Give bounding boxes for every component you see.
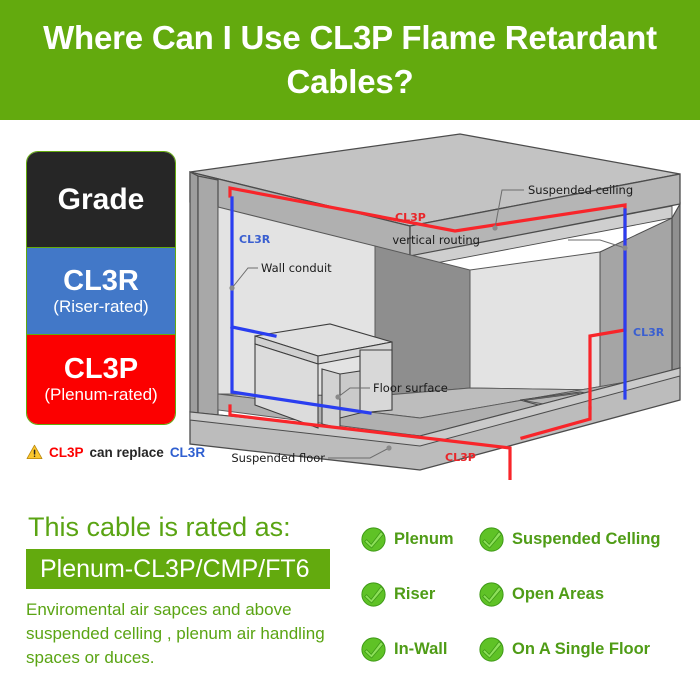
right-outer-wall [600, 204, 680, 390]
rated-as-description: Enviromental air sapces and above suspen… [26, 598, 346, 670]
check-item-in-wall: In-Wall [360, 636, 478, 663]
green-check-circle-icon [478, 581, 505, 608]
check-label: Open Areas [512, 585, 604, 604]
label-wall-conduit: Wall conduit [261, 261, 332, 275]
check-label: Suspended Celling [512, 530, 661, 549]
green-check-circle-icon [360, 526, 387, 553]
rating-pill-label: Plenum-CL3P/CMP/FT6 [40, 555, 310, 584]
replace-note-cl3p: CL3P [49, 445, 84, 460]
warning-triangle-icon [26, 444, 43, 460]
check-item-plenum: Plenum [360, 526, 478, 553]
green-check-circle-icon [360, 581, 387, 608]
label-suspended-ceiling: Suspended ceiling [528, 183, 633, 197]
grade-plenum-sub: (Plenum-rated) [44, 385, 157, 405]
cable-tag-cl3r-right: CL3R [633, 326, 665, 339]
page-title: Where Can I Use CL3P Flame Retardant Cab… [0, 16, 700, 103]
grade-riser-sub: (Riser-rated) [53, 297, 148, 317]
room-isometric-diagram: Suspended ceiling Wall conduit vertical … [170, 128, 700, 480]
check-item-riser: Riser [360, 581, 478, 608]
cable-tag-cl3r-left: CL3R [239, 233, 271, 246]
grade-legend-card: Grade CL3R (Riser-rated) CL3P (Plenum-ra… [26, 151, 176, 425]
rating-pill: Plenum-CL3P/CMP/FT6 [26, 549, 330, 589]
grade-legend-row-riser: CL3R (Riser-rated) [27, 247, 175, 335]
check-item-open-areas: Open Areas [478, 581, 700, 608]
cable-tag-cl3p-bottom: CL3P [445, 451, 476, 464]
rating-check-list: Plenum Suspended Celling Riser Open Area… [360, 512, 700, 677]
label-floor-surface: Floor surface [373, 381, 448, 395]
right-inner-wall [470, 252, 600, 390]
grade-riser-name: CL3R [63, 266, 139, 296]
check-item-on-a-single-floor: On A Single Floor [478, 636, 700, 663]
grade-legend-row-plenum: CL3P (Plenum-rated) [27, 335, 175, 424]
check-label: Riser [394, 585, 435, 604]
grade-legend-header-label: Grade [58, 183, 145, 217]
cable-tag-cl3p-top: CL3P [395, 211, 426, 224]
left-wall-edge [190, 172, 218, 420]
header-banner: Where Can I Use CL3P Flame Retardant Cab… [0, 0, 700, 120]
green-check-circle-icon [360, 636, 387, 663]
grade-plenum-name: CL3P [64, 354, 138, 384]
check-item-suspended-celling: Suspended Celling [478, 526, 700, 553]
check-label: On A Single Floor [512, 640, 650, 659]
check-label: In-Wall [394, 640, 447, 659]
grade-legend-header: Grade [27, 152, 175, 247]
check-label: Plenum [394, 530, 454, 549]
label-vertical-routing: vertical routing [392, 233, 480, 247]
replace-note-middle: can replace [90, 445, 164, 460]
green-check-circle-icon [478, 636, 505, 663]
green-check-circle-icon [478, 526, 505, 553]
label-suspended-floor: Suspended floor [231, 451, 325, 465]
rated-as-heading: This cable is rated as: [28, 512, 291, 543]
